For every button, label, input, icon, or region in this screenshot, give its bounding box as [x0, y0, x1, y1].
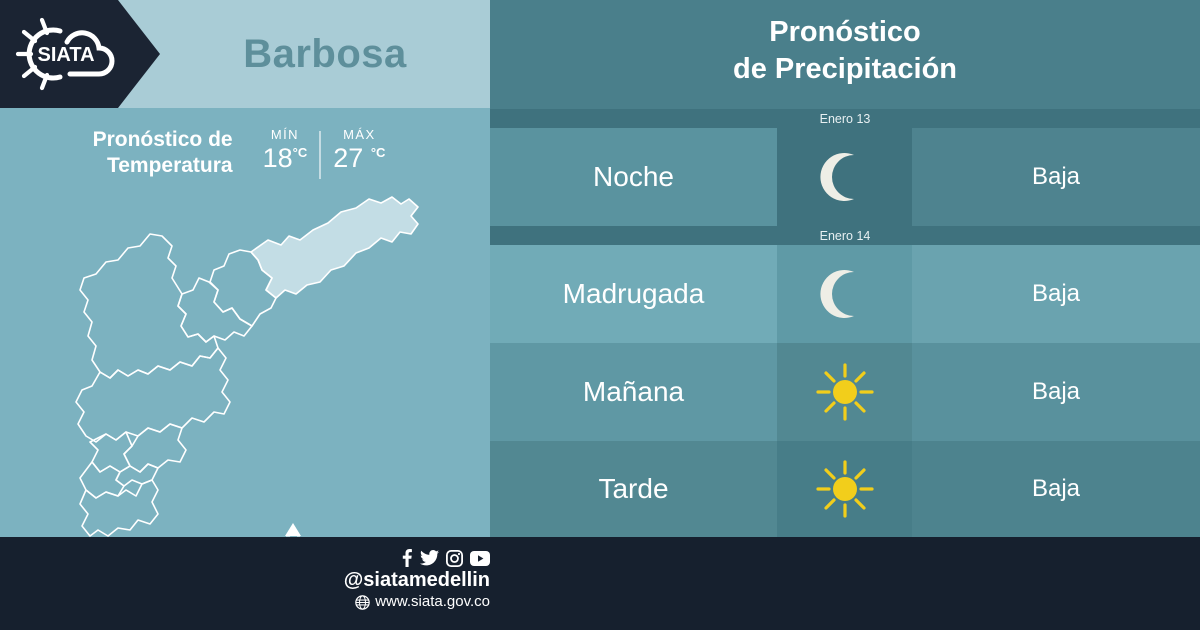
min-label: MÍN [263, 127, 308, 142]
temperature-min: MÍN 18°C [251, 127, 320, 174]
max-unit: °C [371, 145, 386, 160]
period-label: Mañana [583, 376, 684, 408]
map-region-barbosa[interactable] [251, 197, 418, 298]
forecast-icon-cell [777, 128, 912, 226]
forecast-period-cell: Madrugada [490, 245, 777, 343]
youtube-icon[interactable] [470, 551, 490, 566]
forecast-icon-cell [777, 441, 912, 537]
map-region-la-estrella[interactable] [80, 462, 124, 498]
max-label: MÁX [333, 127, 385, 142]
period-label: Madrugada [563, 278, 705, 310]
min-value-wrap: 18°C [263, 143, 308, 173]
level-label: Baja [1032, 280, 1080, 308]
date-header-enero-14: Enero 14 [490, 226, 1200, 245]
aburra-valley-map: N [0, 190, 490, 537]
page-title: Barbosa [160, 0, 490, 108]
city-header: SIATA Barbosa [0, 0, 490, 108]
map-region-sabaneta[interactable] [116, 464, 158, 486]
precipitation-title-line1: Pronóstico [490, 14, 1200, 51]
footer-social-block: @siatamedellin www.siata.gov.co [300, 549, 490, 612]
forecast-icon-cell [777, 343, 912, 441]
website-row[interactable]: www.siata.gov.co [300, 592, 490, 612]
forecast-row-noche[interactable]: Noche Baja [490, 128, 1200, 226]
max-value: 27 [333, 143, 363, 173]
forecast-row-madrugada[interactable]: Madrugada Baja [490, 245, 1200, 343]
forecast-icon-cell [777, 245, 912, 343]
temperature-title: Pronóstico de Temperatura [93, 127, 233, 180]
social-handle[interactable]: @siatamedellin [300, 568, 490, 592]
min-unit: °C [293, 145, 308, 160]
map-region-caldas[interactable] [80, 480, 158, 536]
precipitation-panel: Pronóstico de Precipitación Enero 13 Noc… [490, 0, 1200, 537]
sun-icon [815, 459, 875, 519]
footer: @siatamedellin www.siata.gov.co Con el a… [0, 537, 1200, 630]
forecast-period-cell: Mañana [490, 343, 777, 441]
forecast-level-cell: Baja [912, 128, 1200, 226]
forecast-level-cell: Baja [912, 245, 1200, 343]
sun-cloud-icon: SIATA [14, 14, 118, 94]
temperature-summary: Pronóstico de Temperatura MÍN 18°C MÁX 2… [0, 108, 490, 198]
period-label: Tarde [598, 473, 668, 505]
facebook-icon[interactable] [401, 549, 413, 567]
forecast-level-cell: Baja [912, 441, 1200, 537]
siata-logo-text: SIATA [37, 44, 94, 66]
temperature-max: MÁX 27 °C [321, 127, 397, 174]
instagram-icon[interactable] [446, 550, 463, 567]
forecast-period-cell: Tarde [490, 441, 777, 537]
map-svg [0, 190, 490, 537]
left-panel: SIATA Barbosa Pronóstico de Temperatura … [0, 0, 490, 537]
level-label: Baja [1032, 475, 1080, 503]
temperature-title-line2: Temperatura [93, 153, 233, 179]
period-label: Noche [593, 161, 674, 193]
map-region-copacabana[interactable] [178, 278, 252, 342]
forecast-row-manana[interactable]: Mañana Ba [490, 343, 1200, 441]
social-icons [300, 549, 490, 567]
siata-logo-badge: SIATA [0, 0, 160, 108]
map-region-bello[interactable] [80, 234, 218, 378]
map-region-envigado[interactable] [124, 424, 186, 472]
temperature-title-line1: Pronóstico de [93, 127, 233, 153]
website-url: www.siata.gov.co [375, 592, 490, 612]
precipitation-title-line2: de Precipitación [490, 51, 1200, 88]
forecast-period-cell: Noche [490, 128, 777, 226]
level-label: Baja [1032, 163, 1080, 191]
date-header-enero-13: Enero 13 [490, 109, 1200, 128]
min-value: 18 [263, 143, 293, 173]
level-label: Baja [1032, 378, 1080, 406]
max-value-wrap: 27 °C [333, 143, 385, 173]
weather-infographic: SIATA Barbosa Pronóstico de Temperatura … [0, 0, 1200, 630]
moon-icon [817, 266, 873, 322]
forecast-level-cell: Baja [912, 343, 1200, 441]
temperature-values: MÍN 18°C MÁX 27 °C [251, 127, 398, 179]
globe-icon [355, 595, 370, 610]
map-region-medellin[interactable] [76, 348, 230, 442]
sun-icon [815, 362, 875, 422]
precipitation-title: Pronóstico de Precipitación [490, 14, 1200, 88]
twitter-icon[interactable] [420, 550, 439, 566]
moon-icon [817, 149, 873, 205]
forecast-row-tarde[interactable]: Tarde Baj [490, 441, 1200, 537]
